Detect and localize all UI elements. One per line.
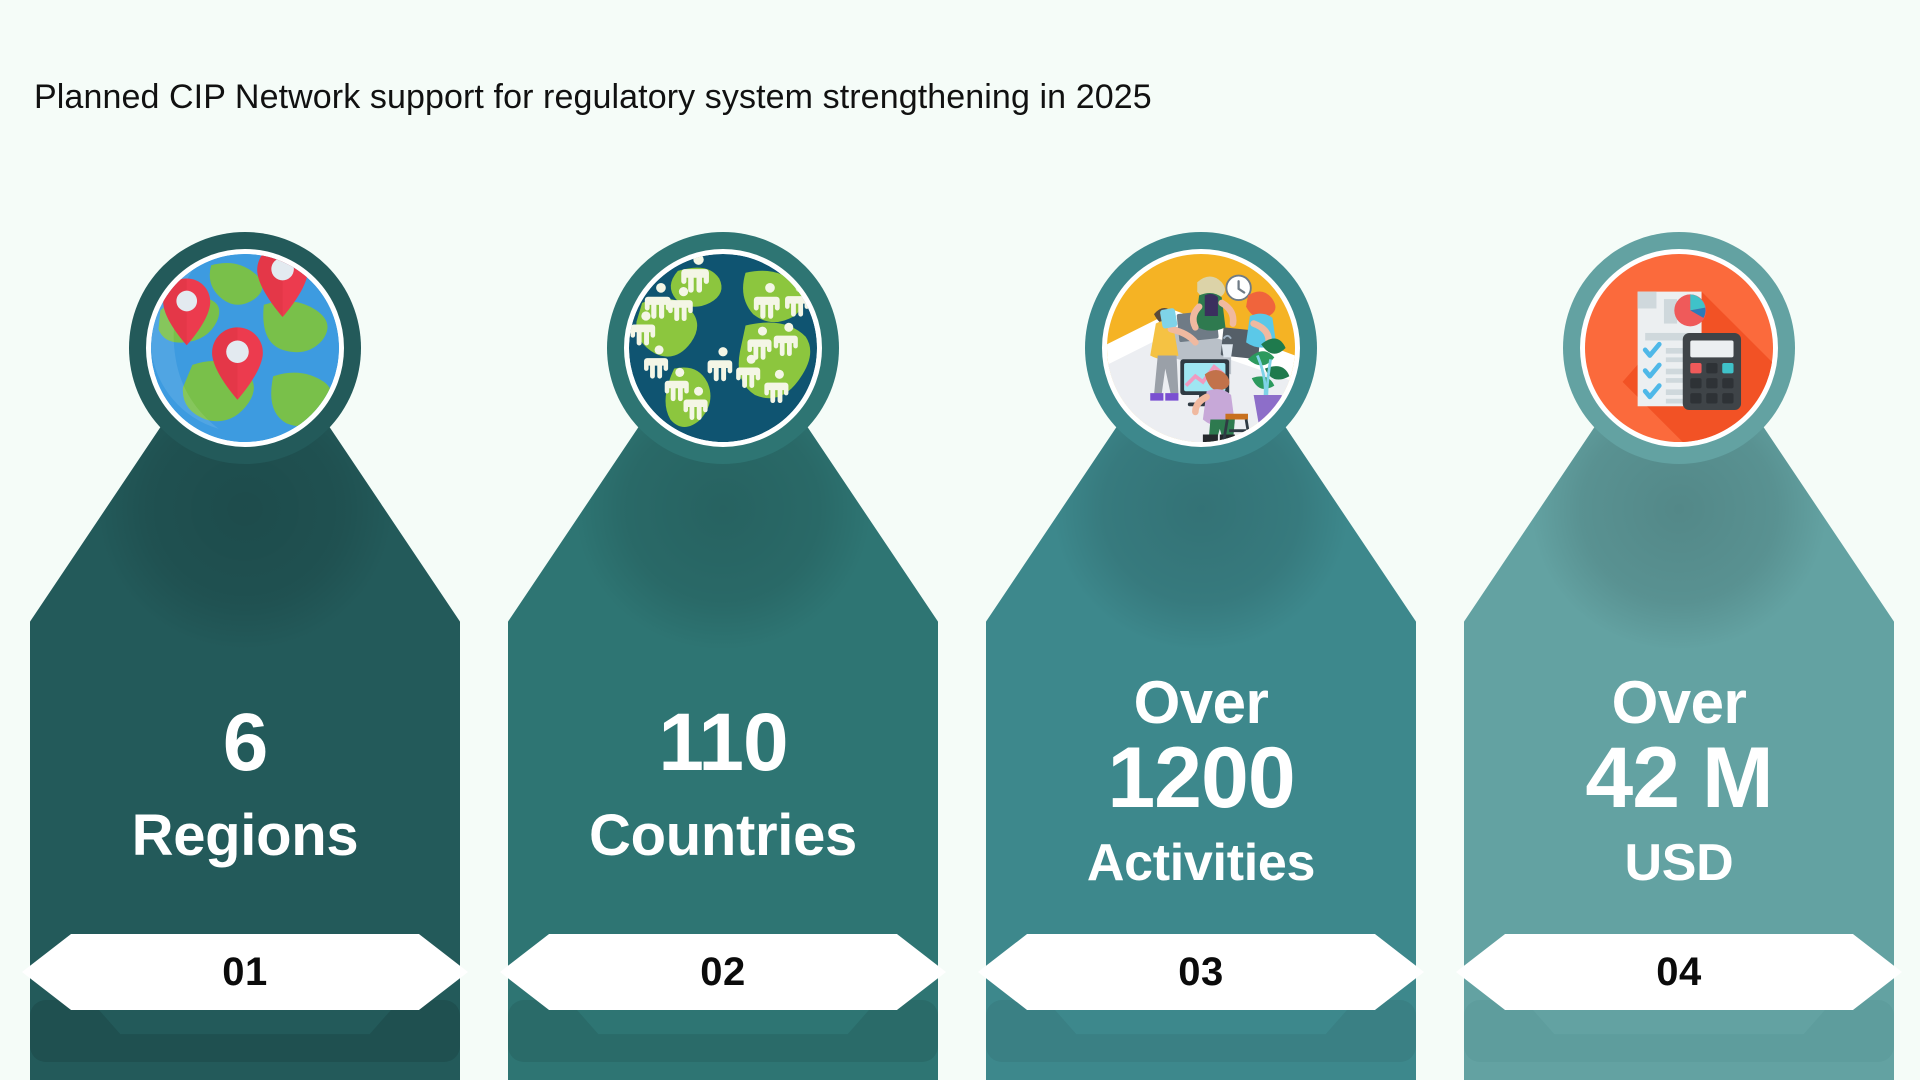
card-number-label: 01	[222, 952, 268, 992]
card-number-label: 03	[1178, 952, 1224, 992]
office-teamwork-icon	[1102, 249, 1300, 447]
stat-card-2[interactable]: 110 Countries 02	[508, 232, 938, 1022]
page-title: Planned CIP Network support for regulato…	[34, 78, 1152, 117]
globe-with-map-pins-icon	[146, 249, 344, 447]
ribbon-2: 02	[500, 934, 946, 1010]
budget-report-calculator-icon	[1580, 249, 1778, 447]
infographic-canvas: Planned CIP Network support for regulato…	[0, 0, 1920, 1080]
globe-with-people-icon	[624, 249, 822, 447]
ribbon-3: 03	[978, 934, 1424, 1010]
card-number-label: 02	[700, 952, 746, 992]
icon-medallion-2	[607, 232, 839, 464]
stat-card-1[interactable]: 6 Regions 01	[30, 232, 460, 1022]
card-number-label: 04	[1656, 952, 1702, 992]
stat-card-4[interactable]: Over 42 M USD 04	[1464, 232, 1894, 1022]
stat-card-3[interactable]: Over 1200 Activities 03	[986, 232, 1416, 1022]
ribbon-1: 01	[22, 934, 468, 1010]
icon-medallion-3	[1085, 232, 1317, 464]
icon-medallion-1	[129, 232, 361, 464]
icon-medallion-4	[1563, 232, 1795, 464]
ribbon-4: 04	[1456, 934, 1902, 1010]
